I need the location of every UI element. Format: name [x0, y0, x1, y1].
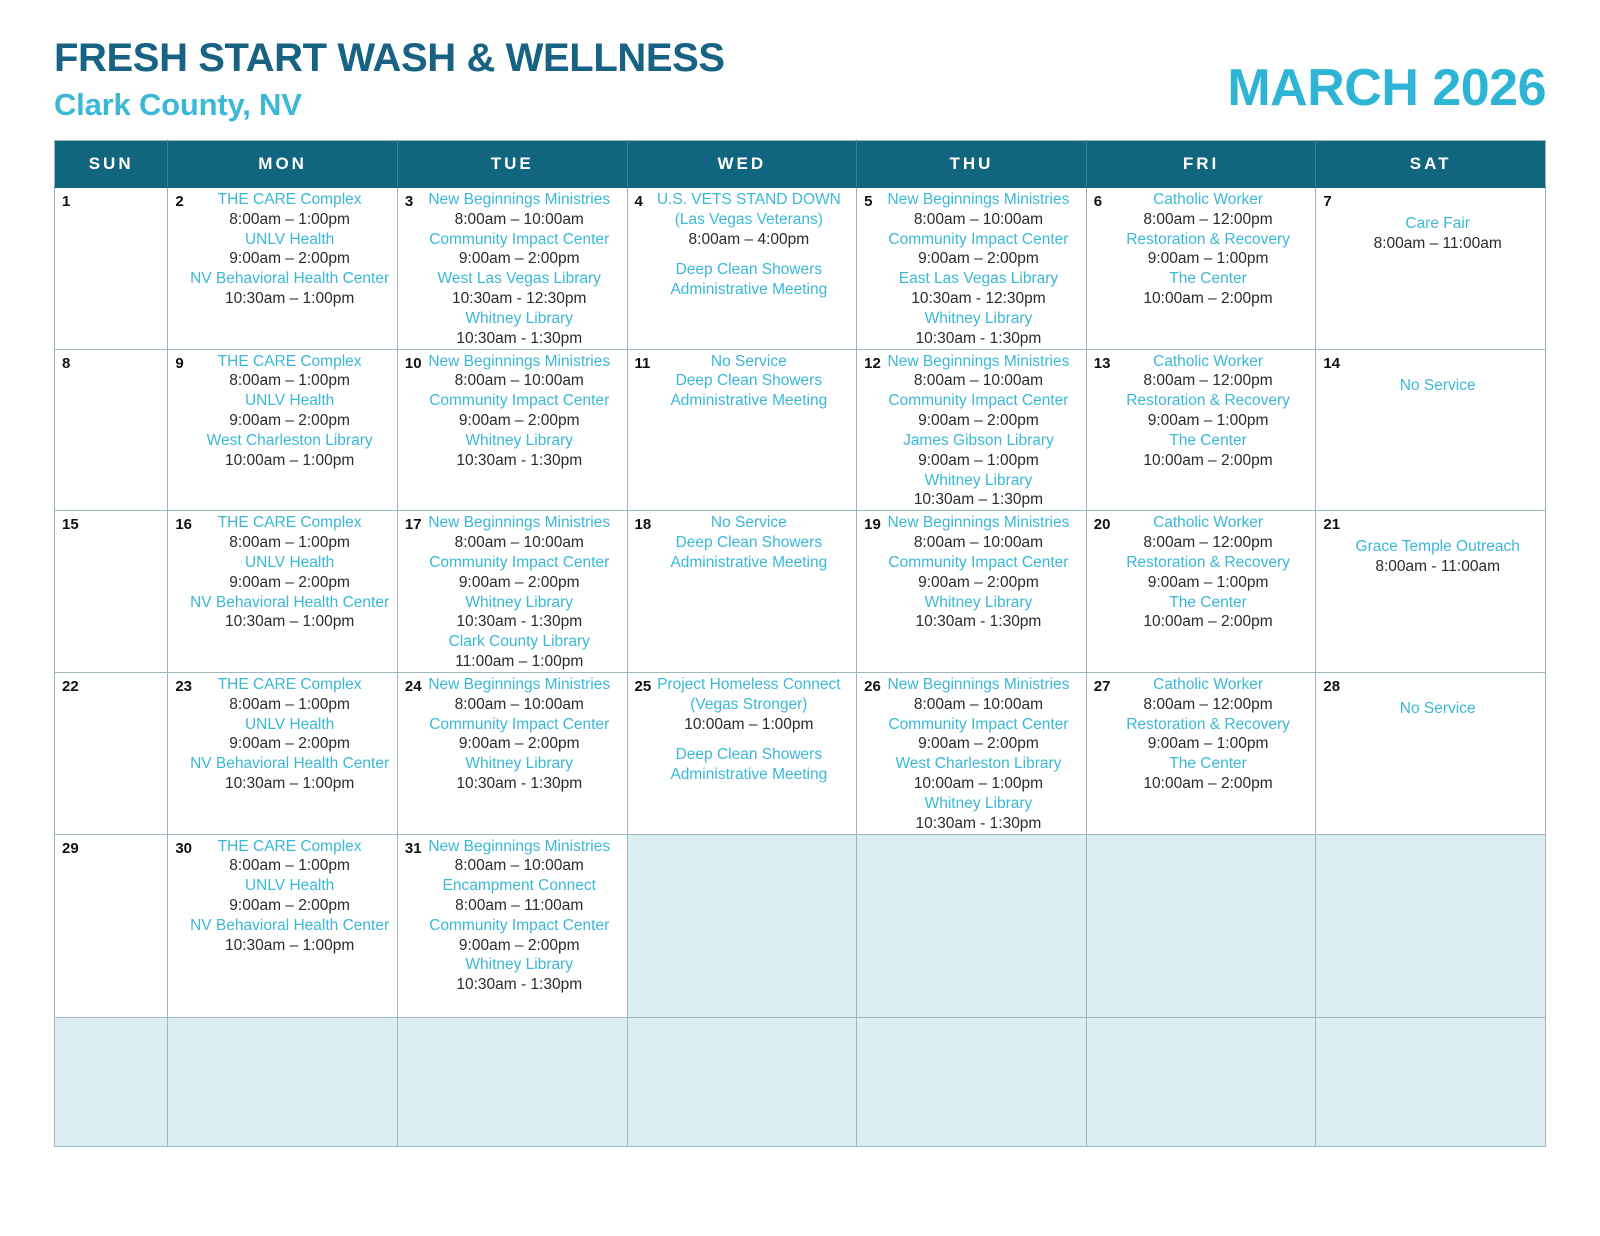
event-time: 10:30am - 12:30pm — [871, 289, 1086, 309]
day-number: 6 — [1094, 193, 1102, 210]
calendar-empty-cell[interactable] — [168, 1017, 398, 1146]
event-title: THE CARE Complex — [182, 513, 397, 533]
event-time: 9:00am – 1:00pm — [871, 451, 1086, 471]
calendar-day-cell[interactable]: 21Grace Temple Outreach8:00am - 11:00am — [1316, 511, 1546, 673]
event-title: Whitney Library — [871, 593, 1086, 613]
event-time: 10:30am - 1:30pm — [871, 329, 1086, 349]
event-time: 8:00am – 10:00am — [412, 856, 627, 876]
event-time: 9:00am – 2:00pm — [182, 249, 397, 269]
day-events: New Beginnings Ministries8:00am – 10:00a… — [857, 511, 1086, 632]
event-title: Community Impact Center — [412, 553, 627, 573]
event-time: 8:00am – 1:00pm — [182, 371, 397, 391]
event-title: Whitney Library — [412, 309, 627, 329]
event-time: 8:00am – 1:00pm — [182, 533, 397, 553]
day-events: THE CARE Complex8:00am – 1:00pmUNLV Heal… — [168, 673, 397, 794]
event-title: Whitney Library — [412, 431, 627, 451]
event-title: Catholic Worker — [1101, 352, 1316, 372]
weekday-header-tue: TUE — [397, 141, 627, 188]
day-number: 21 — [1323, 516, 1340, 533]
day-events: New Beginnings Ministries8:00am – 10:00a… — [857, 350, 1086, 511]
event-title: Clark County Library — [412, 632, 627, 652]
calendar-day-cell[interactable]: 10New Beginnings Ministries8:00am – 10:0… — [397, 349, 627, 511]
calendar-day-cell[interactable]: 30THE CARE Complex8:00am – 1:00pmUNLV He… — [168, 834, 398, 1017]
calendar-day-cell[interactable]: 13Catholic Worker8:00am – 12:00pmRestora… — [1086, 349, 1316, 511]
calendar-week-row: 2930THE CARE Complex8:00am – 1:00pmUNLV … — [55, 834, 1546, 1017]
event-title: New Beginnings Ministries — [412, 352, 627, 372]
event-title: Catholic Worker — [1101, 513, 1316, 533]
event-title: Deep Clean Showers — [642, 533, 857, 553]
event-title: West Charleston Library — [871, 754, 1086, 774]
day-events: No ServiceDeep Clean ShowersAdministrati… — [628, 350, 857, 411]
day-events: New Beginnings Ministries8:00am – 10:00a… — [398, 835, 627, 996]
day-events: THE CARE Complex8:00am – 1:00pmUNLV Heal… — [168, 835, 397, 956]
event-time: 10:30am - 1:30pm — [412, 451, 627, 471]
day-number: 28 — [1323, 678, 1340, 695]
day-number: 8 — [62, 355, 70, 372]
calendar-day-cell[interactable]: 29 — [55, 834, 168, 1017]
day-number: 12 — [864, 355, 881, 372]
day-events: New Beginnings Ministries8:00am – 10:00a… — [398, 350, 627, 471]
calendar-day-cell[interactable]: 27Catholic Worker8:00am – 12:00pmRestora… — [1086, 672, 1316, 834]
day-number: 15 — [62, 516, 79, 533]
event-time: 8:00am - 11:00am — [1330, 557, 1545, 577]
event-time: 10:00am – 2:00pm — [1101, 451, 1316, 471]
weekday-header-sun: SUN — [55, 141, 168, 188]
calendar-day-cell[interactable]: 14No Service — [1316, 349, 1546, 511]
event-time: 8:00am – 12:00pm — [1101, 210, 1316, 230]
event-time: 8:00am – 10:00am — [412, 695, 627, 715]
day-number: 13 — [1094, 355, 1111, 372]
event-title: Administrative Meeting — [642, 553, 857, 573]
event-time: 8:00am – 10:00am — [871, 210, 1086, 230]
event-title: THE CARE Complex — [182, 352, 397, 372]
calendar-body: 12THE CARE Complex8:00am – 1:00pmUNLV He… — [55, 188, 1546, 1147]
day-events: No Service — [1316, 673, 1545, 719]
event-title: No Service — [642, 513, 857, 533]
event-title: Deep Clean Showers — [642, 371, 857, 391]
day-number: 5 — [864, 193, 872, 210]
event-time: 9:00am – 2:00pm — [182, 411, 397, 431]
calendar-day-cell[interactable]: 15 — [55, 511, 168, 673]
day-events: New Beginnings Ministries8:00am – 10:00a… — [398, 511, 627, 672]
calendar-empty-cell[interactable] — [55, 1017, 168, 1146]
event-time: 10:30am - 1:30pm — [412, 774, 627, 794]
calendar-empty-cell[interactable] — [1086, 1017, 1316, 1146]
day-events: Grace Temple Outreach8:00am - 11:00am — [1316, 511, 1545, 577]
masthead: FRESH START WASH & WELLNESS Clark County… — [0, 0, 1600, 140]
event-time: 9:00am – 2:00pm — [412, 249, 627, 269]
event-title: Administrative Meeting — [642, 765, 857, 785]
weekday-header-wed: WED — [627, 141, 857, 188]
event-title: New Beginnings Ministries — [871, 675, 1086, 695]
event-title: THE CARE Complex — [182, 675, 397, 695]
calendar-day-cell[interactable]: 26New Beginnings Ministries8:00am – 10:0… — [857, 672, 1087, 834]
calendar-week-row — [55, 1017, 1546, 1146]
event-time: 8:00am – 1:00pm — [182, 856, 397, 876]
calendar-day-cell[interactable]: 12New Beginnings Ministries8:00am – 10:0… — [857, 349, 1087, 511]
day-number: 11 — [635, 355, 651, 372]
calendar-day-cell[interactable]: 1 — [55, 188, 168, 350]
day-number: 25 — [635, 678, 652, 695]
event-title: Grace Temple Outreach — [1330, 537, 1545, 557]
day-events: Care Fair8:00am – 11:00am — [1316, 188, 1545, 254]
day-events: Project Homeless Connect(Vegas Stronger)… — [628, 673, 857, 785]
event-time: 9:00am – 2:00pm — [412, 734, 627, 754]
event-title: Whitney Library — [412, 955, 627, 975]
day-events: Catholic Worker8:00am – 12:00pmRestorati… — [1087, 188, 1316, 309]
month-title: MARCH 2026 — [1227, 58, 1546, 120]
event-time: 10:30am - 1:30pm — [871, 814, 1086, 834]
day-events: Catholic Worker8:00am – 12:00pmRestorati… — [1087, 673, 1316, 794]
event-title: Catholic Worker — [1101, 190, 1316, 210]
event-time: 10:00am – 2:00pm — [1101, 289, 1316, 309]
day-number: 1 — [62, 193, 70, 210]
day-events: New Beginnings Ministries8:00am – 10:00a… — [857, 188, 1086, 349]
event-title: Project Homeless Connect — [642, 675, 857, 695]
calendar-day-cell[interactable]: 5New Beginnings Ministries8:00am – 10:00… — [857, 188, 1087, 350]
event-spacer — [642, 249, 857, 260]
calendar-grid: SUN MON TUE WED THU FRI SAT 12THE CARE C… — [54, 140, 1546, 1147]
day-number: 14 — [1323, 355, 1340, 372]
event-time: 9:00am – 2:00pm — [871, 734, 1086, 754]
day-number: 19 — [864, 516, 881, 533]
day-number: 31 — [405, 840, 422, 857]
event-title: UNLV Health — [182, 391, 397, 411]
day-number: 26 — [864, 678, 881, 695]
day-events: No Service — [1316, 350, 1545, 396]
event-title: NV Behavioral Health Center — [182, 916, 397, 936]
day-number: 17 — [405, 516, 422, 533]
weekday-header-fri: FRI — [1086, 141, 1316, 188]
event-title: Whitney Library — [871, 794, 1086, 814]
day-events: New Beginnings Ministries8:00am – 10:00a… — [398, 188, 627, 349]
event-title: NV Behavioral Health Center — [182, 754, 397, 774]
event-title: New Beginnings Ministries — [871, 352, 1086, 372]
day-number: 24 — [405, 678, 422, 695]
event-title: (Las Vegas Veterans) — [642, 210, 857, 230]
calendar-day-cell[interactable]: 2THE CARE Complex8:00am – 1:00pmUNLV Hea… — [168, 188, 398, 350]
event-title: West Las Vegas Library — [412, 269, 627, 289]
event-title: New Beginnings Ministries — [412, 675, 627, 695]
calendar-week-row: 1516THE CARE Complex8:00am – 1:00pmUNLV … — [55, 511, 1546, 673]
event-spacer — [642, 734, 857, 745]
event-time: 10:00am – 1:00pm — [642, 715, 857, 735]
event-time: 8:00am – 12:00pm — [1101, 695, 1316, 715]
event-time: 10:30am – 1:00pm — [182, 936, 397, 956]
event-time: 9:00am – 1:00pm — [1101, 734, 1316, 754]
event-title: The Center — [1101, 431, 1316, 451]
event-title: THE CARE Complex — [182, 837, 397, 857]
calendar-day-cell[interactable]: 25Project Homeless Connect(Vegas Stronge… — [627, 672, 857, 834]
calendar-day-cell[interactable]: 6Catholic Worker8:00am – 12:00pmRestorat… — [1086, 188, 1316, 350]
calendar-day-cell[interactable]: 24New Beginnings Ministries8:00am – 10:0… — [397, 672, 627, 834]
calendar-empty-cell[interactable] — [1086, 834, 1316, 1017]
event-time: 10:30am - 1:30pm — [412, 975, 627, 995]
day-number: 2 — [175, 193, 183, 210]
event-time: 9:00am – 2:00pm — [182, 896, 397, 916]
weekday-header-sat: SAT — [1316, 141, 1546, 188]
event-title: UNLV Health — [182, 553, 397, 573]
org-location: Clark County, NV — [54, 89, 725, 120]
event-time: 10:00am – 1:00pm — [182, 451, 397, 471]
org-title: FRESH START WASH & WELLNESS — [54, 38, 725, 78]
event-title: East Las Vegas Library — [871, 269, 1086, 289]
event-title: Restoration & Recovery — [1101, 230, 1316, 250]
day-events: THE CARE Complex8:00am – 1:00pmUNLV Heal… — [168, 511, 397, 632]
day-number: 20 — [1094, 516, 1111, 533]
day-events: No ServiceDeep Clean ShowersAdministrati… — [628, 511, 857, 572]
calendar-empty-cell[interactable] — [1316, 1017, 1546, 1146]
calendar-empty-cell[interactable] — [397, 1017, 627, 1146]
event-time: 8:00am – 11:00am — [412, 896, 627, 916]
brand-block: FRESH START WASH & WELLNESS Clark County… — [54, 38, 725, 120]
event-title: Restoration & Recovery — [1101, 715, 1316, 735]
day-events: New Beginnings Ministries8:00am – 10:00a… — [857, 673, 1086, 834]
day-number: 10 — [405, 355, 422, 372]
event-title: No Service — [642, 352, 857, 372]
day-events: Catholic Worker8:00am – 12:00pmRestorati… — [1087, 350, 1316, 471]
day-number: 7 — [1323, 193, 1331, 210]
event-title: Community Impact Center — [412, 916, 627, 936]
event-title: Community Impact Center — [871, 230, 1086, 250]
event-time: 9:00am – 2:00pm — [182, 734, 397, 754]
event-time: 10:30am – 1:00pm — [182, 289, 397, 309]
calendar-empty-cell[interactable] — [627, 1017, 857, 1146]
event-title: Encampment Connect — [412, 876, 627, 896]
calendar-empty-cell[interactable] — [857, 1017, 1087, 1146]
event-title: The Center — [1101, 593, 1316, 613]
event-title: Community Impact Center — [871, 715, 1086, 735]
event-time: 8:00am – 12:00pm — [1101, 371, 1316, 391]
event-title: UNLV Health — [182, 230, 397, 250]
calendar-empty-cell[interactable] — [857, 834, 1087, 1017]
event-title: Community Impact Center — [412, 715, 627, 735]
day-events: Catholic Worker8:00am – 12:00pmRestorati… — [1087, 511, 1316, 632]
day-number: 9 — [175, 355, 183, 372]
event-time: 10:30am – 1:00pm — [182, 774, 397, 794]
event-title: Catholic Worker — [1101, 675, 1316, 695]
calendar-page: FRESH START WASH & WELLNESS Clark County… — [0, 0, 1600, 1236]
event-title: No Service — [1330, 699, 1545, 719]
event-time: 9:00am – 2:00pm — [871, 411, 1086, 431]
calendar-day-cell[interactable]: 31New Beginnings Ministries8:00am – 10:0… — [397, 834, 627, 1017]
day-events: THE CARE Complex8:00am – 1:00pmUNLV Heal… — [168, 350, 397, 471]
event-time: 8:00am – 10:00am — [412, 210, 627, 230]
event-title: Community Impact Center — [412, 391, 627, 411]
calendar-day-cell[interactable]: 19New Beginnings Ministries8:00am – 10:0… — [857, 511, 1087, 673]
calendar-day-cell[interactable]: 4U.S. VETS STAND DOWN(Las Vegas Veterans… — [627, 188, 857, 350]
event-title: Administrative Meeting — [642, 280, 857, 300]
event-time: 9:00am – 2:00pm — [412, 411, 627, 431]
day-number: 18 — [635, 516, 652, 533]
event-title: Restoration & Recovery — [1101, 553, 1316, 573]
event-time: 9:00am – 1:00pm — [1101, 411, 1316, 431]
event-title: The Center — [1101, 269, 1316, 289]
event-title: New Beginnings Ministries — [871, 190, 1086, 210]
calendar-day-cell[interactable]: 7Care Fair8:00am – 11:00am — [1316, 188, 1546, 350]
event-time: 10:30am – 1:30pm — [871, 490, 1086, 510]
event-title: Whitney Library — [871, 471, 1086, 491]
event-time: 8:00am – 4:00pm — [642, 230, 857, 250]
event-time: 11:00am – 1:00pm — [412, 652, 627, 672]
event-title: THE CARE Complex — [182, 190, 397, 210]
day-number: 30 — [175, 840, 192, 857]
day-events: THE CARE Complex8:00am – 1:00pmUNLV Heal… — [168, 188, 397, 309]
day-events: New Beginnings Ministries8:00am – 10:00a… — [398, 673, 627, 794]
day-number: 27 — [1094, 678, 1111, 695]
event-time: 8:00am – 10:00am — [871, 371, 1086, 391]
calendar-day-cell[interactable]: 20Catholic Worker8:00am – 12:00pmRestora… — [1086, 511, 1316, 673]
day-number: 4 — [635, 193, 643, 210]
calendar-day-cell[interactable]: 18No ServiceDeep Clean ShowersAdministra… — [627, 511, 857, 673]
event-time: 10:30am - 1:30pm — [412, 612, 627, 632]
event-title: Administrative Meeting — [642, 391, 857, 411]
calendar-day-cell[interactable]: 16THE CARE Complex8:00am – 1:00pmUNLV He… — [168, 511, 398, 673]
event-time: 9:00am – 1:00pm — [1101, 249, 1316, 269]
event-time: 9:00am – 2:00pm — [871, 573, 1086, 593]
calendar-day-cell[interactable]: 11No ServiceDeep Clean ShowersAdministra… — [627, 349, 857, 511]
event-title: New Beginnings Ministries — [412, 837, 627, 857]
event-title: Community Impact Center — [412, 230, 627, 250]
event-title: NV Behavioral Health Center — [182, 593, 397, 613]
event-title: Deep Clean Showers — [642, 745, 857, 765]
event-title: Restoration & Recovery — [1101, 391, 1316, 411]
event-title: No Service — [1330, 376, 1545, 396]
event-time: 9:00am – 2:00pm — [412, 936, 627, 956]
day-number: 29 — [62, 840, 79, 857]
calendar-empty-cell[interactable] — [627, 834, 857, 1017]
event-title: NV Behavioral Health Center — [182, 269, 397, 289]
calendar-day-cell[interactable]: 28No Service — [1316, 672, 1546, 834]
event-title: New Beginnings Ministries — [412, 513, 627, 533]
event-time: 8:00am – 1:00pm — [182, 695, 397, 715]
weekday-header-thu: THU — [857, 141, 1087, 188]
event-title: UNLV Health — [182, 876, 397, 896]
calendar-week-row: 89THE CARE Complex8:00am – 1:00pmUNLV He… — [55, 349, 1546, 511]
calendar-day-cell[interactable]: 9THE CARE Complex8:00am – 1:00pmUNLV Hea… — [168, 349, 398, 511]
calendar-day-cell[interactable]: 23THE CARE Complex8:00am – 1:00pmUNLV He… — [168, 672, 398, 834]
event-time: 9:00am – 1:00pm — [1101, 573, 1316, 593]
calendar-day-cell[interactable]: 17New Beginnings Ministries8:00am – 10:0… — [397, 511, 627, 673]
day-events: U.S. VETS STAND DOWN(Las Vegas Veterans)… — [628, 188, 857, 300]
event-title: New Beginnings Ministries — [412, 190, 627, 210]
event-time: 10:30am - 1:30pm — [412, 329, 627, 349]
event-time: 9:00am – 2:00pm — [182, 573, 397, 593]
weekday-header-mon: MON — [168, 141, 398, 188]
event-title: Whitney Library — [871, 309, 1086, 329]
calendar-week-row: 2223THE CARE Complex8:00am – 1:00pmUNLV … — [55, 672, 1546, 834]
event-title: Whitney Library — [412, 754, 627, 774]
day-number: 23 — [175, 678, 192, 695]
day-number: 22 — [62, 678, 79, 695]
event-time: 10:30am - 12:30pm — [412, 289, 627, 309]
calendar-empty-cell[interactable] — [1316, 834, 1546, 1017]
day-number: 3 — [405, 193, 413, 210]
weekday-header-row: SUN MON TUE WED THU FRI SAT — [55, 141, 1546, 188]
event-title: Community Impact Center — [871, 391, 1086, 411]
event-time: 8:00am – 10:00am — [871, 533, 1086, 553]
event-time: 10:00am – 2:00pm — [1101, 774, 1316, 794]
calendar-week-row: 12THE CARE Complex8:00am – 1:00pmUNLV He… — [55, 188, 1546, 350]
event-title: Community Impact Center — [871, 553, 1086, 573]
event-title: The Center — [1101, 754, 1316, 774]
event-time: 10:30am – 1:00pm — [182, 612, 397, 632]
calendar-day-cell[interactable]: 22 — [55, 672, 168, 834]
calendar-day-cell[interactable]: 8 — [55, 349, 168, 511]
event-time: 8:00am – 10:00am — [412, 533, 627, 553]
event-title: Whitney Library — [412, 593, 627, 613]
event-title: UNLV Health — [182, 715, 397, 735]
event-time: 8:00am – 1:00pm — [182, 210, 397, 230]
event-time: 8:00am – 10:00am — [871, 695, 1086, 715]
event-time: 10:00am – 2:00pm — [1101, 612, 1316, 632]
event-time: 10:30am - 1:30pm — [871, 612, 1086, 632]
event-title: West Charleston Library — [182, 431, 397, 451]
event-title: James Gibson Library — [871, 431, 1086, 451]
event-title: (Vegas Stronger) — [642, 695, 857, 715]
event-title: Deep Clean Showers — [642, 260, 857, 280]
event-time: 9:00am – 2:00pm — [412, 573, 627, 593]
event-title: Care Fair — [1330, 214, 1545, 234]
event-time: 9:00am – 2:00pm — [871, 249, 1086, 269]
event-title: New Beginnings Ministries — [871, 513, 1086, 533]
calendar-day-cell[interactable]: 3New Beginnings Ministries8:00am – 10:00… — [397, 188, 627, 350]
day-number: 16 — [175, 516, 192, 533]
event-time: 10:00am – 1:00pm — [871, 774, 1086, 794]
event-time: 8:00am – 11:00am — [1330, 234, 1545, 254]
event-time: 8:00am – 10:00am — [412, 371, 627, 391]
event-title: U.S. VETS STAND DOWN — [642, 190, 857, 210]
event-time: 8:00am – 12:00pm — [1101, 533, 1316, 553]
